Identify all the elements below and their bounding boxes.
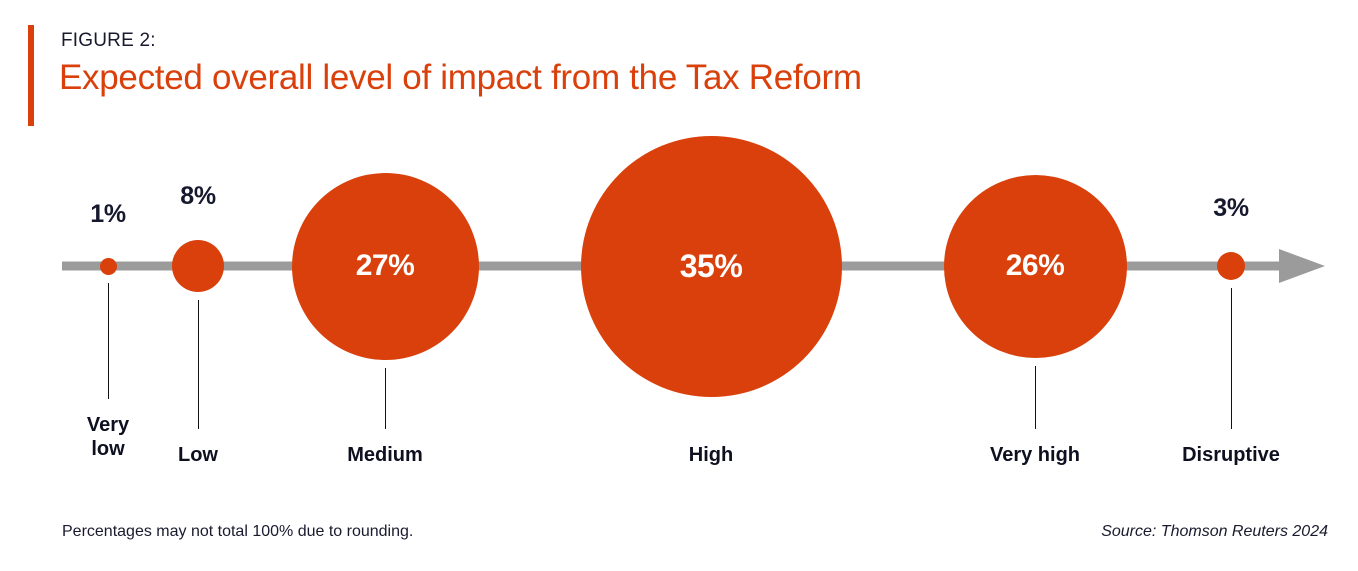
leader-line (1231, 288, 1232, 429)
category-label-high: High (616, 443, 806, 467)
category-label-very-high: Very high (940, 443, 1130, 467)
bubble-value-label: 35% (680, 250, 743, 282)
bubble-very-high[interactable]: 26% (944, 175, 1127, 358)
axis-arrowhead-icon (1279, 249, 1325, 283)
bubble-very-low[interactable] (100, 258, 117, 275)
category-label-disruptive: Disruptive (1136, 443, 1326, 467)
bubble-disruptive[interactable] (1217, 252, 1245, 280)
leader-line (198, 300, 199, 429)
leader-line (385, 368, 386, 430)
bubble-high[interactable]: 35% (581, 136, 842, 397)
bubble-value-label: 26% (1006, 251, 1065, 281)
bubble-value-label: 27% (356, 251, 415, 281)
category-label-medium: Medium (290, 443, 480, 467)
leader-line (108, 283, 109, 400)
leader-line (1035, 366, 1036, 430)
bubble-chart: 1%Very low8%Low27%Medium35%High26%Very h… (0, 0, 1358, 571)
bubble-value-label: 8% (138, 184, 258, 209)
bubble-low[interactable] (172, 240, 224, 292)
footnote: Percentages may not total 100% due to ro… (62, 523, 413, 541)
bubble-medium[interactable]: 27% (292, 173, 479, 360)
figure-container: FIGURE 2: Expected overall level of impa… (0, 0, 1358, 571)
category-label-low: Low (103, 443, 293, 467)
bubble-value-label: 3% (1171, 196, 1291, 221)
source-credit: Source: Thomson Reuters 2024 (1101, 523, 1328, 541)
